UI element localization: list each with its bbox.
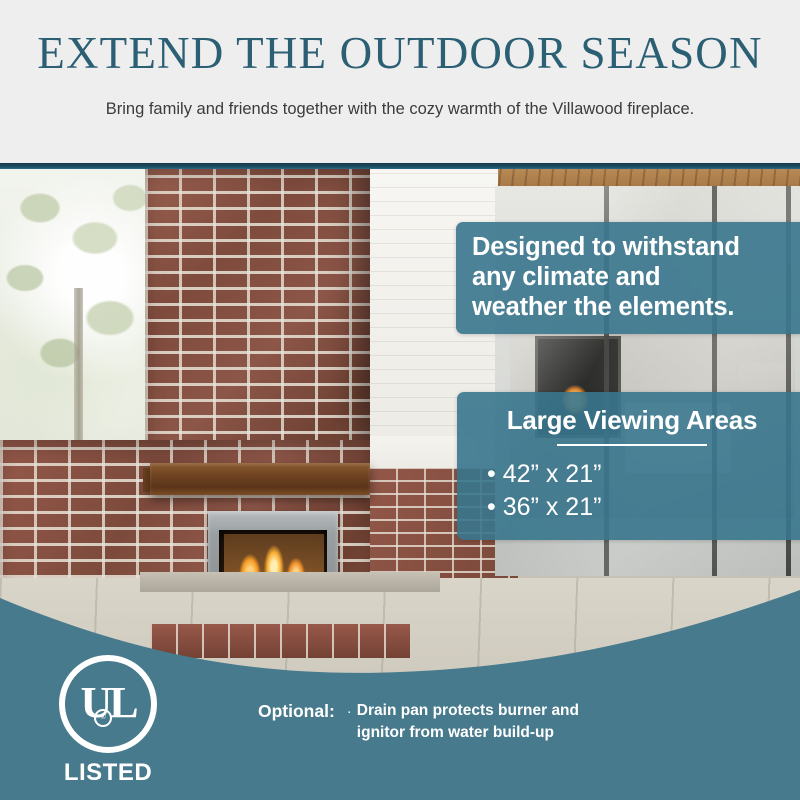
viewing-size-item: •36” x 21” [473, 491, 791, 524]
optional-note: Optional: · Drain pan protects burner an… [258, 700, 579, 744]
ul-listed-mark: UL ® LISTED [52, 655, 164, 786]
optional-label: Optional: [258, 700, 335, 723]
marketing-flyer: EXTEND THE OUTDOOR SEASON Bring family a… [0, 0, 800, 800]
optional-text-line1: Drain pan protects burner and [357, 700, 579, 722]
wood-mantel [150, 463, 370, 495]
header-band: EXTEND THE OUTDOOR SEASON Bring family a… [0, 0, 800, 163]
viewing-size-label: 36” x 21” [503, 493, 602, 521]
callout-large-viewing-areas: Large Viewing Areas •42” x 21” •36” x 21… [457, 392, 800, 540]
header-divider-rule [0, 163, 800, 169]
bullet-icon: • [487, 460, 496, 488]
ul-listed-label: LISTED [52, 760, 164, 786]
callout-withstand-line2: any climate and [472, 262, 792, 292]
registered-trademark-icon: ® [94, 709, 112, 727]
footer-band: UL ® LISTED Optional: · Drain pan protec… [0, 560, 800, 800]
ul-circle-icon: UL ® [59, 655, 157, 753]
page-subtitle: Bring family and friends together with t… [0, 98, 800, 120]
viewing-size-item: •42” x 21” [473, 458, 791, 491]
callout-viewing-title: Large Viewing Areas [473, 404, 791, 436]
optional-text-line2: ignitor from water build-up [357, 722, 579, 744]
optional-text: Drain pan protects burner and ignitor fr… [357, 700, 579, 744]
callout-withstand-line1: Designed to withstand [472, 232, 792, 262]
viewing-size-label: 42” x 21” [503, 460, 602, 488]
callout-withstand: Designed to withstand any climate and we… [456, 222, 800, 334]
bullet-icon: · [347, 700, 352, 723]
page-title: EXTEND THE OUTDOOR SEASON [0, 28, 800, 78]
callout-viewing-divider [557, 444, 707, 446]
bullet-icon: • [487, 493, 496, 521]
callout-withstand-line3: weather the elements. [472, 292, 792, 322]
